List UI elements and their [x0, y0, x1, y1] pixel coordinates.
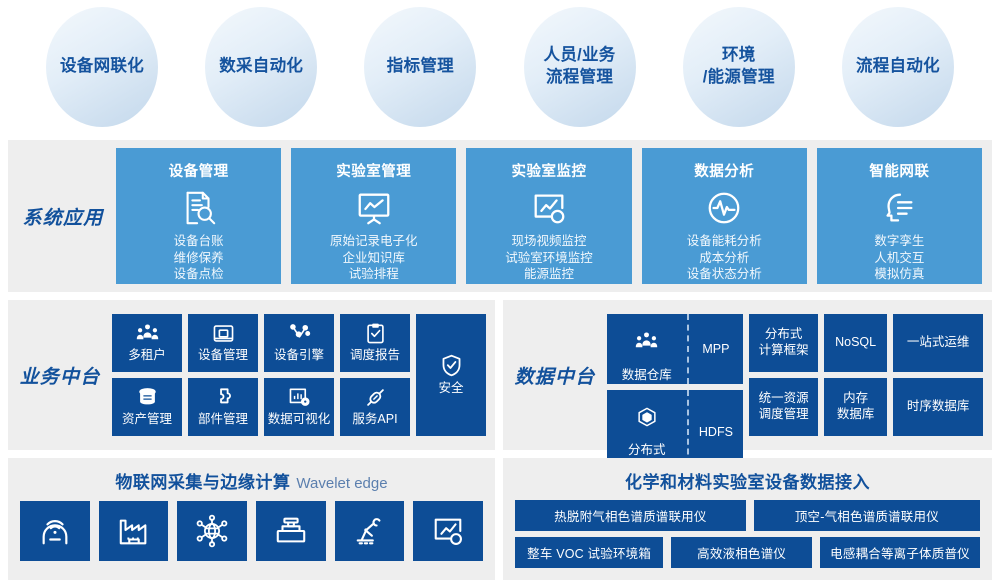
- business-tile-data-visualization[interactable]: 数据可视化: [264, 378, 334, 436]
- system-application-row-label: 系统应用: [10, 203, 116, 230]
- plug-connect-icon: [364, 386, 387, 409]
- bar-chart-view-icon: [288, 386, 311, 409]
- tile-label: 设备引擎: [274, 348, 324, 364]
- data-platform-row-label: 数据中台: [503, 362, 607, 389]
- business-tile-service-api[interactable]: 服务API: [340, 378, 410, 436]
- business-tile-security[interactable]: 安全: [416, 314, 486, 436]
- card-title: 智能网联: [869, 160, 929, 181]
- card-title: 实验室管理: [336, 160, 411, 181]
- system-app-card-lab-monitoring[interactable]: 实验室监控 现场视频监控 试验室环境监控 能源监控: [466, 148, 631, 284]
- document-search-icon: [180, 188, 218, 228]
- data-tile-column: 分布式 计算框架 统一资源 调度管理: [749, 314, 818, 436]
- iot-box-industrial-valve[interactable]: [256, 501, 326, 561]
- business-tile-column: 调度报告 服务API: [340, 314, 410, 436]
- iot-box-robot-arm[interactable]: [335, 501, 405, 561]
- iot-edge-title: 物联网采集与边缘计算: [115, 473, 290, 492]
- architecture-diagram: 设备网联化 数采自动化 指标管理 人员/业务 流程管理 环境 /能源管理 流程自…: [0, 0, 1000, 588]
- tile-label: 部件管理: [198, 412, 248, 428]
- business-tile-device-management[interactable]: 设备管理: [188, 314, 258, 372]
- card-lines: 数字孪生 人机交互 模拟仿真: [874, 233, 924, 283]
- clipboard-check-icon: [364, 322, 387, 345]
- business-tile-column: 多租户 资产管理: [112, 314, 182, 436]
- data-tile-column: NoSQL 内存 数据库: [824, 314, 887, 436]
- iot-box-globe-network[interactable]: [177, 501, 247, 561]
- data-split-column: 数据仓库 MPP 分布式 存储系统 HDFS: [607, 314, 743, 436]
- data-tile-in-memory-database[interactable]: 内存 数据库: [824, 378, 887, 436]
- capability-ellipse-row: 设备网联化 数采自动化 指标管理 人员/业务 流程管理 环境 /能源管理 流程自…: [0, 0, 1000, 134]
- business-tile-asset-management[interactable]: 资产管理: [112, 378, 182, 436]
- card-title: 数据分析: [694, 160, 754, 181]
- business-tile-column: 设备管理 部件管理: [188, 314, 258, 436]
- people-group-icon: [136, 322, 159, 345]
- tile-label: 资产管理: [122, 412, 172, 428]
- lab-equipment-row: 整车 VOC 试验环境箱 高效液相色谱仪 电感耦合等离子体质普仪: [515, 537, 980, 568]
- card-lines: 设备台账 维修保养 设备点检: [174, 233, 224, 283]
- lab-chip-hplc[interactable]: 高效液相色谱仪: [671, 537, 812, 568]
- lab-chip-headspace-gcms[interactable]: 顶空-气相色谱质谱联用仪: [754, 500, 980, 531]
- iot-box-monitor-chart[interactable]: [413, 501, 483, 561]
- card-lines: 现场视频监控 试验室环境监控 能源监控: [505, 233, 593, 283]
- industrial-valve-icon: [274, 514, 308, 548]
- head-profile-icon: [880, 188, 918, 228]
- business-tile-device-engine[interactable]: 设备引擎: [264, 314, 334, 372]
- tile-label: 多租户: [128, 348, 166, 364]
- iot-edge-subtitle: Wavelet edge: [296, 475, 387, 492]
- tile-label: 设备管理: [198, 348, 248, 364]
- capability-label: 指标管理: [387, 56, 454, 78]
- iot-edge-title-row: 物联网采集与边缘计算Wavelet edge: [8, 458, 495, 493]
- business-tile-scheduling-report[interactable]: 调度报告: [340, 314, 410, 372]
- capability-ellipse[interactable]: 流程自动化: [842, 7, 954, 127]
- card-title: 实验室监控: [512, 160, 587, 181]
- business-tile-multi-tenant[interactable]: 多租户: [112, 314, 182, 372]
- business-platform-row-label: 业务中台: [8, 362, 112, 389]
- lab-chip-voc-chamber[interactable]: 整车 VOC 试验环境箱: [515, 537, 663, 568]
- tile-label: 服务API: [352, 412, 397, 428]
- factory-icon: [117, 514, 151, 548]
- system-application-section: 系统应用 设备管理 设备台账 维修保养 设备点检 实验室管理: [8, 140, 992, 292]
- business-platform-section: 业务中台 多租户: [8, 300, 495, 450]
- business-tile-column: 设备引擎 数据可视化: [264, 314, 334, 436]
- wifi-gateway-icon: [38, 514, 72, 548]
- business-platform-grid: 多租户 资产管理: [112, 314, 495, 436]
- tile-label: 数据可视化: [268, 412, 331, 428]
- monitor-chart-icon: [530, 188, 568, 228]
- data-tile-timeseries-database[interactable]: 时序数据库: [893, 378, 983, 436]
- people-group-icon: [635, 314, 658, 368]
- robot-arm-icon: [353, 514, 387, 548]
- business-tile-component-management[interactable]: 部件管理: [188, 378, 258, 436]
- capability-ellipse[interactable]: 人员/业务 流程管理: [524, 7, 636, 127]
- capability-label: 流程自动化: [856, 56, 940, 78]
- tile-label: 安全: [438, 381, 463, 397]
- puzzle-piece-icon: [212, 386, 235, 409]
- tile-label: 调度报告: [350, 348, 400, 364]
- card-lines: 原始记录电子化 企业知识库 试验排程: [330, 233, 418, 283]
- iot-box-factory[interactable]: [99, 501, 169, 561]
- system-application-card-list: 设备管理 设备台账 维修保养 设备点检 实验室管理: [116, 148, 992, 284]
- capability-label: 设备网联化: [60, 56, 144, 78]
- iot-box-wifi-gateway[interactable]: [20, 501, 90, 561]
- data-tile-column: 一站式运维 时序数据库: [893, 314, 983, 436]
- data-warehouse-cell[interactable]: 数据仓库: [607, 314, 689, 384]
- lab-equipment-chip-list: 热脱附气相色谱质谱联用仪 顶空-气相色谱质谱联用仪 整车 VOC 试验环境箱 高…: [503, 493, 992, 568]
- iot-icon-row: [8, 493, 495, 561]
- cube-network-icon: [636, 390, 658, 443]
- capability-ellipse[interactable]: 设备网联化: [46, 7, 158, 127]
- data-platform-grid: 数据仓库 MPP 分布式 存储系统 HDFS: [607, 314, 992, 436]
- data-mpp-cell[interactable]: MPP: [689, 314, 744, 384]
- system-app-card-lab-management[interactable]: 实验室管理 原始记录电子化 企业知识库 试验排程: [291, 148, 456, 284]
- iot-edge-section: 物联网采集与边缘计算Wavelet edge: [8, 458, 495, 580]
- system-app-card-data-analysis[interactable]: 数据分析 设备能耗分析 成本分析 设备状态分析: [642, 148, 807, 284]
- capability-label: 人员/业务 流程管理: [544, 45, 616, 89]
- shield-check-icon: [439, 353, 464, 378]
- system-app-card-device-management[interactable]: 设备管理 设备台账 维修保养 设备点检: [116, 148, 281, 284]
- presentation-chart-icon: [355, 188, 393, 228]
- system-app-card-intelligent-connectivity[interactable]: 智能网联 数字孪生 人机交互 模拟仿真: [817, 148, 982, 284]
- globe-network-icon: [195, 514, 229, 548]
- lab-chip-td-gcms[interactable]: 热脱附气相色谱质谱联用仪: [515, 500, 746, 531]
- node-graph-icon: [288, 322, 311, 345]
- card-title: 设备管理: [169, 160, 229, 181]
- capability-ellipse[interactable]: 环境 /能源管理: [683, 7, 795, 127]
- pulse-circle-icon: [705, 188, 743, 228]
- cell-label: 数据仓库: [622, 368, 672, 384]
- data-tile-one-stop-ops[interactable]: 一站式运维: [893, 314, 983, 372]
- lab-chip-icpms[interactable]: 电感耦合等离子体质普仪: [820, 537, 980, 568]
- lab-equipment-row: 热脱附气相色谱质谱联用仪 顶空-气相色谱质谱联用仪: [515, 500, 980, 531]
- capability-ellipse[interactable]: 数采自动化: [205, 7, 317, 127]
- data-platform-section: 数据中台 数据仓库 MPP: [503, 300, 992, 450]
- data-tile-warehouse-mpp[interactable]: 数据仓库 MPP: [607, 314, 743, 384]
- lab-equipment-title: 化学和材料实验室设备数据接入: [503, 458, 992, 493]
- data-tile-unified-resource-scheduling[interactable]: 统一资源 调度管理: [749, 378, 818, 436]
- data-tile-distributed-computing[interactable]: 分布式 计算框架: [749, 314, 818, 372]
- capability-ellipse[interactable]: 指标管理: [364, 7, 476, 127]
- card-lines: 设备能耗分析 成本分析 设备状态分析: [687, 233, 762, 283]
- capability-label: 环境 /能源管理: [703, 45, 775, 89]
- lab-equipment-section: 化学和材料实验室设备数据接入 热脱附气相色谱质谱联用仪 顶空-气相色谱质谱联用仪…: [503, 458, 992, 580]
- business-security-column: 安全: [416, 314, 486, 436]
- data-tile-nosql[interactable]: NoSQL: [824, 314, 887, 372]
- database-coins-icon: [136, 386, 159, 409]
- capability-label: 数采自动化: [219, 56, 303, 78]
- monitor-chart-icon: [431, 514, 465, 548]
- device-box-icon: [212, 322, 235, 345]
